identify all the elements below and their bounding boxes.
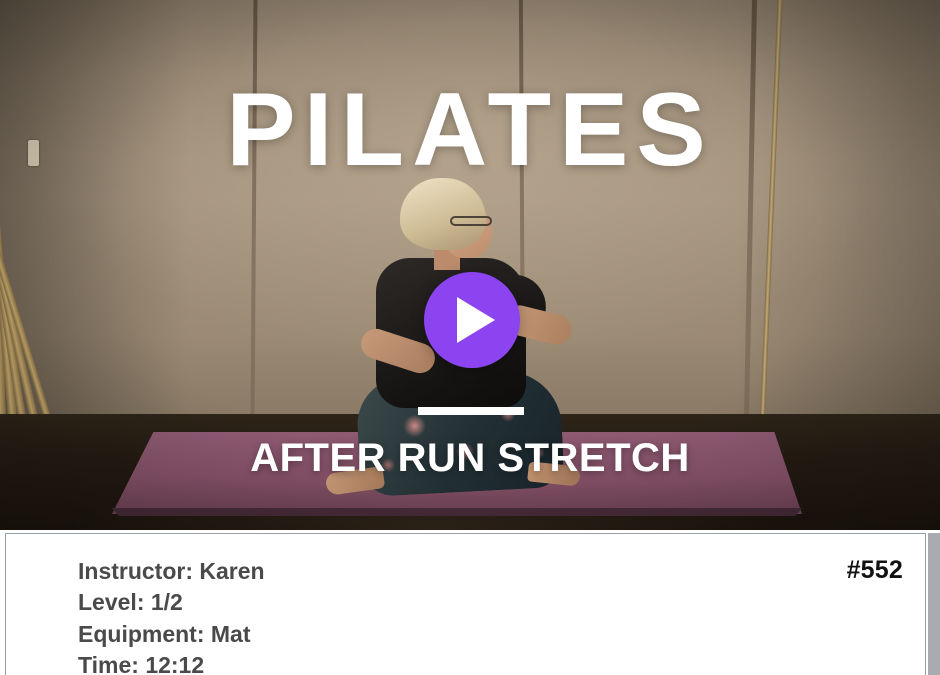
play-icon xyxy=(457,297,495,343)
level-line: Level: 1/2 xyxy=(78,587,893,618)
glasses-icon xyxy=(450,216,492,226)
class-info-card: #552 Instructor: Karen Level: 1/2 Equipm… xyxy=(5,533,926,675)
instructor-hair xyxy=(400,178,486,250)
time-line: Time: 12:12 xyxy=(78,650,893,675)
equipment-line: Equipment: Mat xyxy=(78,619,893,650)
video-subtitle: AFTER RUN STRETCH xyxy=(0,438,940,478)
instructor-line: Instructor: Karen xyxy=(78,556,893,587)
video-thumbnail[interactable]: PILATES AFTER RUN STRETCH xyxy=(0,0,940,530)
page-scrollbar-track[interactable] xyxy=(928,533,940,675)
class-info-details: Instructor: Karen Level: 1/2 Equipment: … xyxy=(78,556,893,675)
class-info-list: Instructor: Karen Level: 1/2 Equipment: … xyxy=(78,556,893,675)
title-divider xyxy=(418,407,524,415)
play-button[interactable] xyxy=(424,272,520,368)
video-title: PILATES xyxy=(0,78,940,182)
yoga-mat-edge xyxy=(112,508,802,516)
video-class-page: PILATES AFTER RUN STRETCH #552 Instructo… xyxy=(0,0,940,675)
